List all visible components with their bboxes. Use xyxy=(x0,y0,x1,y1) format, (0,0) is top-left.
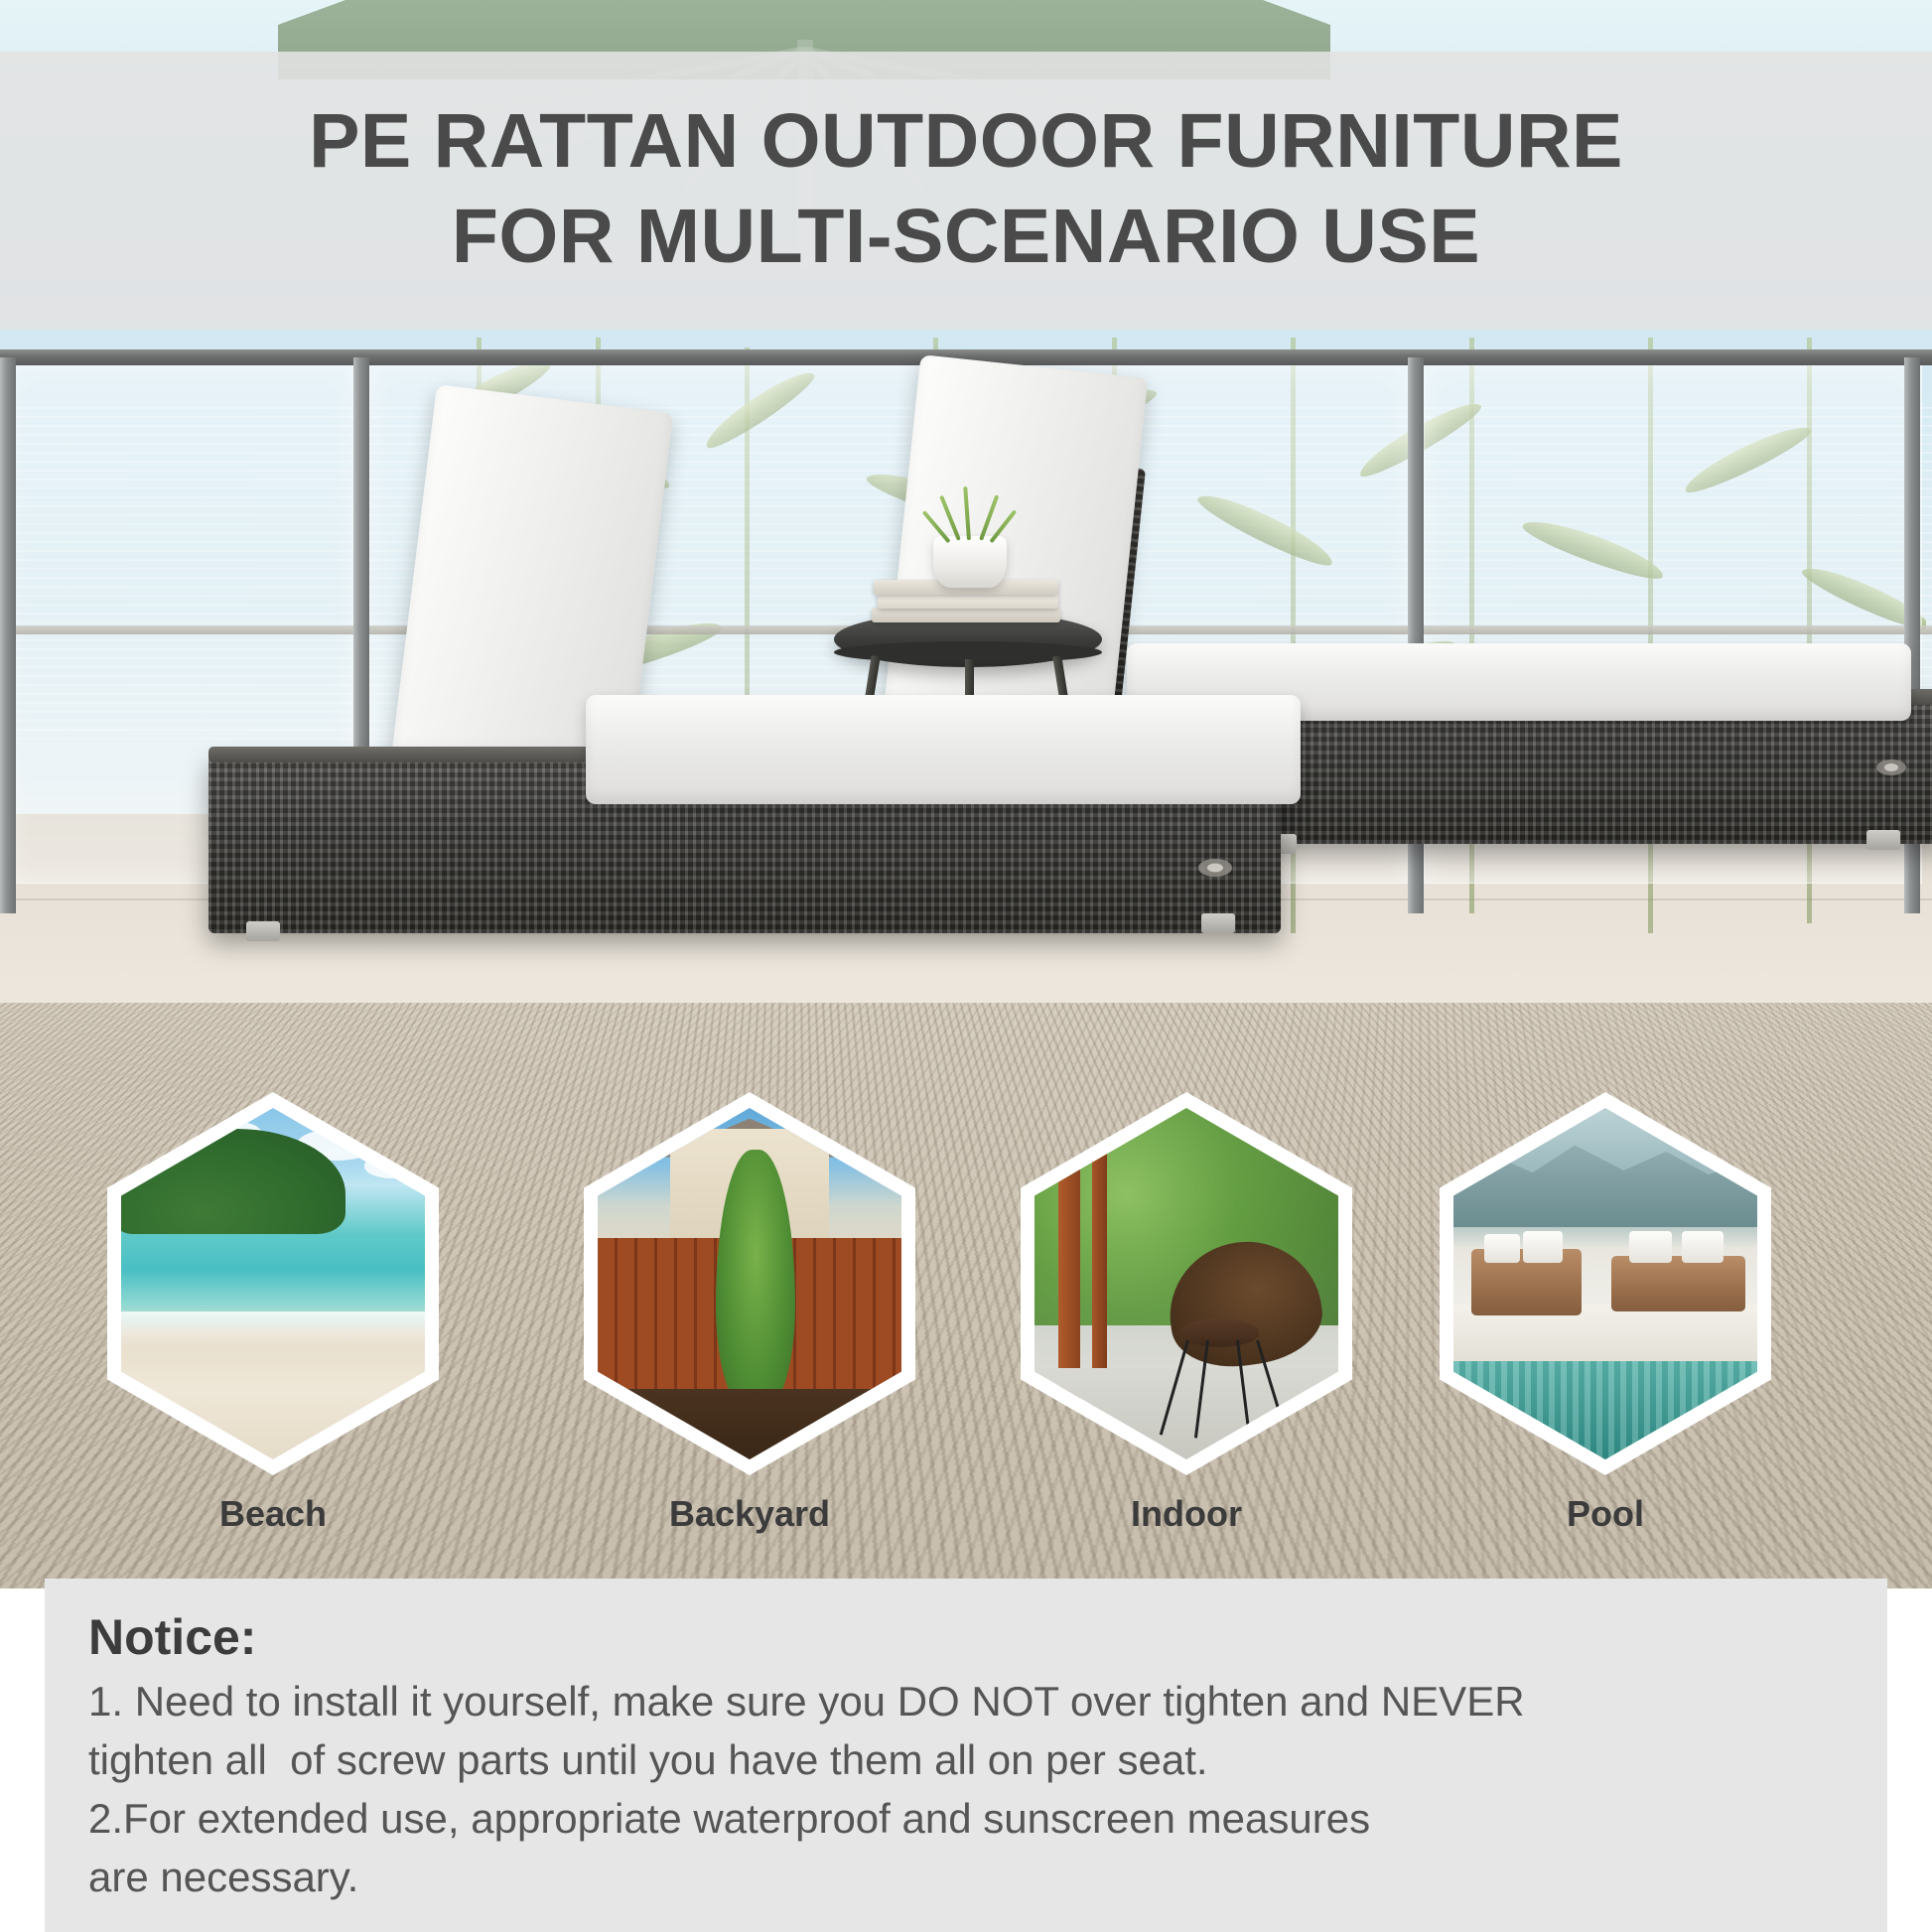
scenario-card-backyard[interactable]: Backyard xyxy=(584,1092,915,1475)
scenario-label-beach: Beach xyxy=(107,1493,439,1535)
brand-logo-icon xyxy=(1874,757,1908,778)
notice-item-2: 2.For extended use, appropriate waterpro… xyxy=(88,1789,1844,1906)
scenario-strip: Beach Backyard xyxy=(0,1092,1932,1519)
plant-pot xyxy=(933,536,1007,588)
notice-title: Notice: xyxy=(88,1606,1844,1668)
headline-line-2: FOR MULTI-SCENARIO USE xyxy=(0,189,1932,284)
potted-plant xyxy=(937,483,1007,542)
scenario-label-indoor: Indoor xyxy=(1021,1493,1352,1535)
scenario-label-pool: Pool xyxy=(1440,1493,1771,1535)
scenario-card-beach[interactable]: Beach xyxy=(107,1092,439,1475)
notice-panel: Notice: 1. Need to install it yourself, … xyxy=(45,1579,1887,1932)
notice-item-1: 1. Need to install it yourself, make sur… xyxy=(88,1672,1844,1789)
scenario-card-pool[interactable]: Pool xyxy=(1440,1092,1771,1475)
product-infographic: PE RATTAN OUTDOOR FURNITURE FOR MULTI-SC… xyxy=(0,0,1932,1932)
headline-line-1: PE RATTAN OUTDOOR FURNITURE xyxy=(0,52,1932,189)
brand-logo-icon xyxy=(1196,856,1234,880)
header-banner: PE RATTAN OUTDOOR FURNITURE FOR MULTI-SC… xyxy=(0,52,1932,330)
scenario-card-indoor[interactable]: Indoor xyxy=(1021,1092,1352,1475)
scenario-label-backyard: Backyard xyxy=(584,1493,915,1535)
